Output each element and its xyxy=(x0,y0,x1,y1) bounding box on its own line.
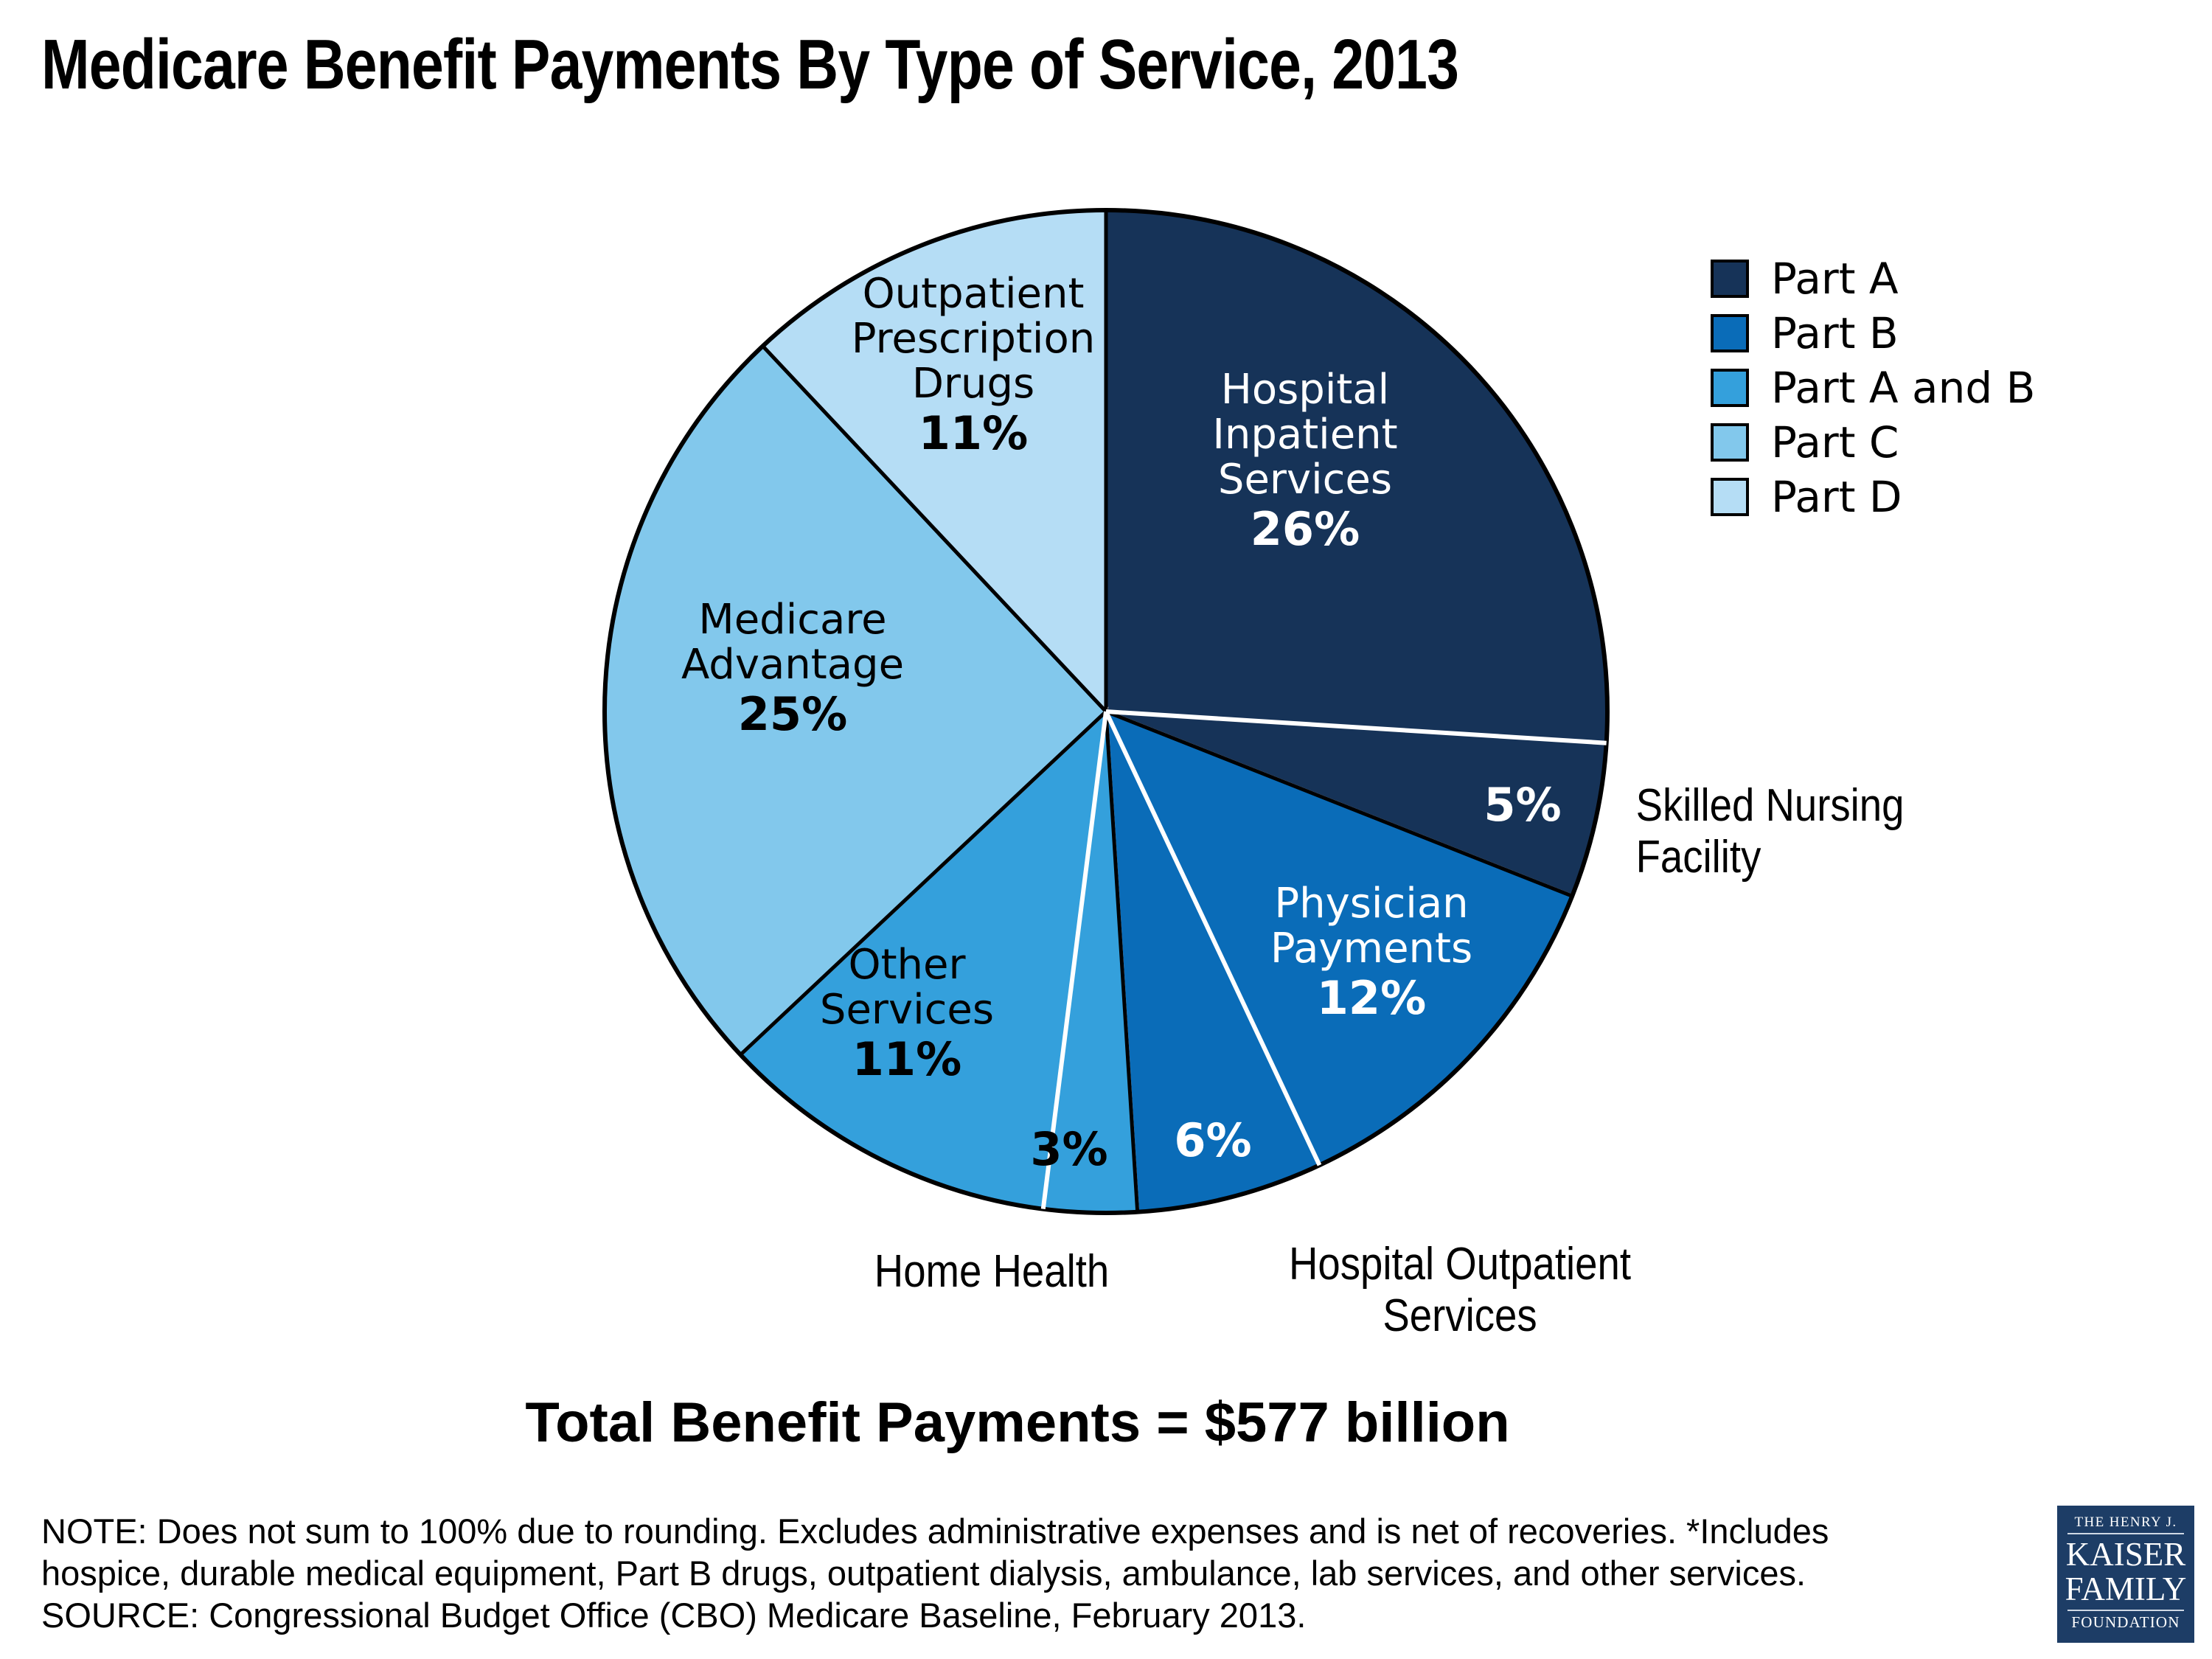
slice-value: 5% xyxy=(1460,778,1585,832)
slice-label-medicare-advantage: MedicareAdvantage 25% xyxy=(634,597,951,742)
slice-value: 12% xyxy=(1209,971,1534,1026)
callout-text: Hospital OutpatientServices xyxy=(1289,1239,1631,1341)
legend-item[interactable]: Part A and B xyxy=(1711,369,2035,407)
footnote-note-line-1: NOTE: Does not sum to 100% due to roundi… xyxy=(41,1510,1980,1552)
legend-item[interactable]: Part A xyxy=(1711,260,2035,298)
footnote-note-line-2: hospice, durable medical equipment, Part… xyxy=(41,1552,1980,1594)
total-benefit-payments: Total Benefit Payments = $577 billion xyxy=(0,1392,2035,1454)
footnote: NOTE: Does not sum to 100% due to roundi… xyxy=(41,1510,1980,1636)
slice-label-text: MedicareAdvantage xyxy=(681,596,904,689)
logo-line-1: THE HENRY J. xyxy=(2063,1514,2188,1530)
slice-value: 11% xyxy=(815,406,1132,461)
legend-item-label: Part A xyxy=(1771,257,1899,300)
callout-label-home-health: Home Health xyxy=(823,1246,1161,1298)
legend-swatch-icon xyxy=(1711,260,1749,298)
callout-text: Home Health xyxy=(874,1246,1109,1297)
slice-label-home-health-pct: 3% xyxy=(1006,1122,1132,1177)
slice-value: 3% xyxy=(1006,1122,1132,1177)
legend-item-label: Part D xyxy=(1771,476,1902,518)
callout-text: Skilled NursingFacility xyxy=(1636,780,1905,883)
slice-value: 6% xyxy=(1150,1113,1276,1168)
slice-label-hospital-inpatient: HospitalInpatientServices 26% xyxy=(1150,367,1460,557)
slice-value: 11% xyxy=(759,1032,1054,1087)
footnote-source: SOURCE: Congressional Budget Office (CBO… xyxy=(41,1594,1980,1636)
logo-divider-bottom xyxy=(2067,1610,2184,1611)
legend-swatch-icon xyxy=(1711,478,1749,516)
logo-line-2: KAISER xyxy=(2063,1537,2188,1572)
slice-label-hospital-outpatient-pct: 6% xyxy=(1150,1113,1276,1168)
legend: Part APart BPart A and BPart CPart D xyxy=(1711,260,2035,532)
legend-swatch-icon xyxy=(1711,314,1749,352)
slice-label-skilled-nursing-pct: 5% xyxy=(1460,778,1585,832)
slice-label-text: OtherServices xyxy=(820,941,994,1034)
slice-label-text: HospitalInpatientServices xyxy=(1212,366,1397,504)
slice-value: 26% xyxy=(1150,502,1460,557)
callout-label-hospital-outpatient: Hospital OutpatientServices xyxy=(1226,1239,1694,1342)
slice-label-text: PhysicianPayments xyxy=(1270,880,1472,973)
slice-label-outpatient-rx: OutpatientPrescriptionDrugs 11% xyxy=(815,271,1132,461)
callout-label-skilled-nursing: Skilled NursingFacility xyxy=(1636,780,2000,883)
legend-swatch-icon xyxy=(1711,369,1749,407)
legend-item[interactable]: Part C xyxy=(1711,423,2035,462)
slice-value: 25% xyxy=(634,687,951,742)
logo-divider-top xyxy=(2067,1533,2184,1534)
chart-page: Medicare Benefit Payments By Type of Ser… xyxy=(0,0,2212,1659)
legend-item-label: Part C xyxy=(1771,421,1899,464)
legend-item[interactable]: Part D xyxy=(1711,478,2035,516)
legend-swatch-icon xyxy=(1711,423,1749,462)
logo-line-3: FAMILY xyxy=(2063,1572,2188,1607)
legend-item-label: Part A and B xyxy=(1771,366,2035,409)
logo-line-4: FOUNDATION xyxy=(2063,1614,2188,1631)
legend-item[interactable]: Part B xyxy=(1711,314,2035,352)
kaiser-family-foundation-logo: THE HENRY J. KAISER FAMILY FOUNDATION xyxy=(2057,1506,2194,1643)
slice-label-other-services: OtherServices 11% xyxy=(759,942,1054,1087)
legend-item-label: Part B xyxy=(1771,312,1899,355)
slice-label-text: OutpatientPrescriptionDrugs xyxy=(852,270,1095,408)
slice-label-physician: PhysicianPayments 12% xyxy=(1209,881,1534,1026)
